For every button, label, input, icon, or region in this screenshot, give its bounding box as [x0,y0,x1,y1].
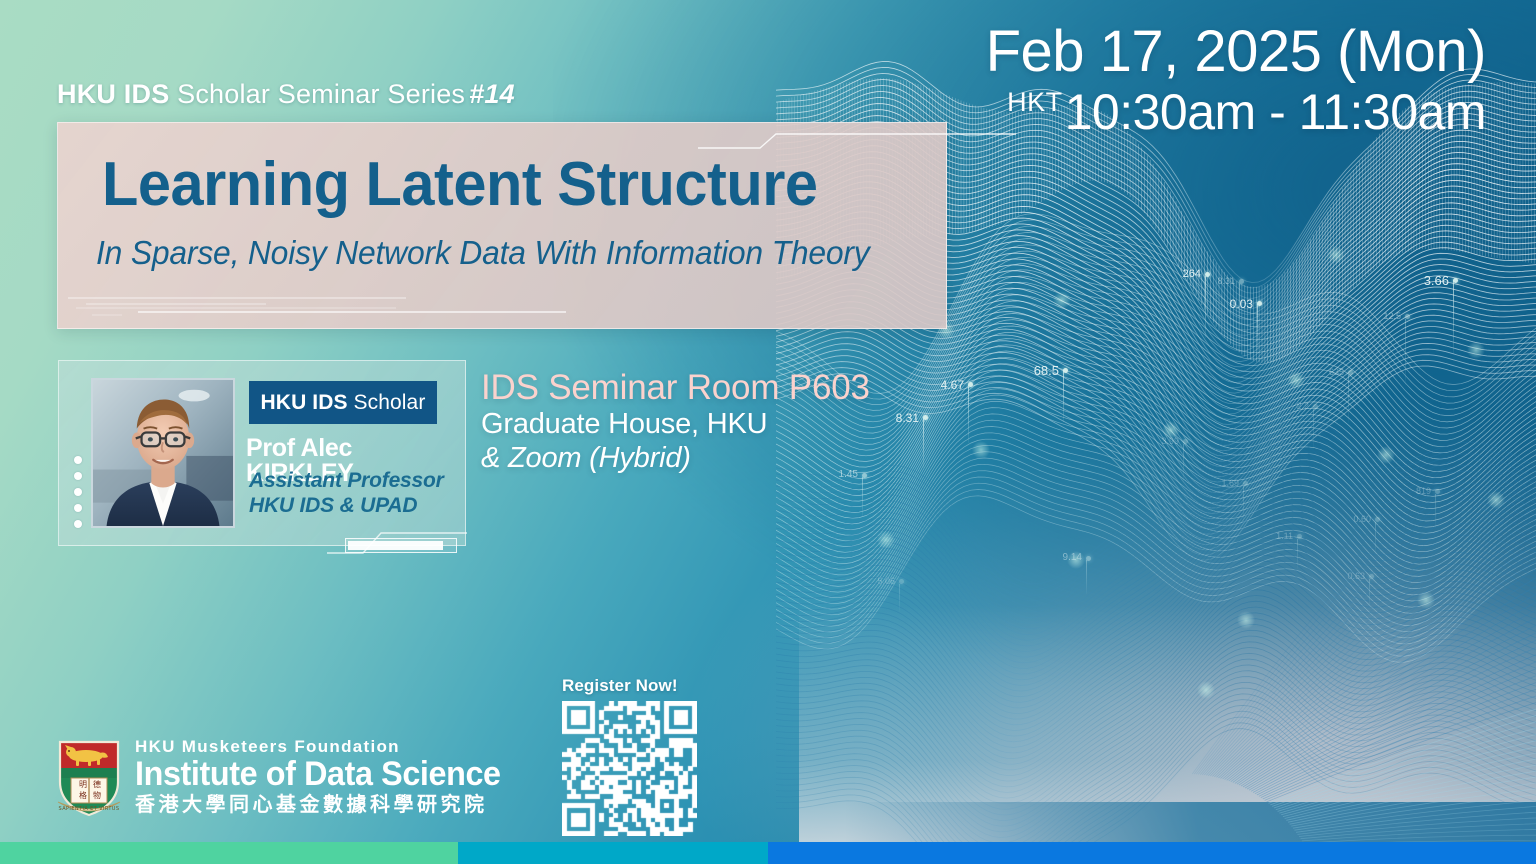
speaker-portrait [91,378,235,528]
venue-building: Graduate House, HKU [481,407,870,441]
scholar-badge-text: HKU IDS Scholar [261,391,426,415]
bottom-color-bar [0,842,1536,864]
timezone-label: HKT [1007,87,1063,117]
card-progress-decoration [345,538,457,553]
venue-mode: & Zoom (Hybrid) [481,441,870,475]
eyebrow-series: Scholar Seminar Series [169,79,465,109]
page-title: Learning Latent Structure [102,153,889,216]
venue-block: IDS Seminar Room P603 Graduate House, HK… [481,369,870,475]
eyebrow-brand: HKU IDS [57,79,169,109]
card-dots-decoration [74,456,82,536]
badge-brand: HKU IDS [261,391,348,414]
scholar-badge: HKU IDS Scholar [249,381,437,424]
venue-room: IDS Seminar Room P603 [481,369,870,407]
speaker-affiliation: Assistant Professor HKU IDS & UPAD [249,468,464,518]
speaker-title: Assistant Professor [249,468,464,493]
bottom-bar-segment-blue [768,842,1536,864]
svg-text:明: 明 [79,780,87,789]
title-card-line-decoration [66,294,666,320]
event-date: Feb 17, 2025 (Mon) [986,22,1486,81]
bottom-bar-segment-green [0,842,458,864]
svg-text:德: 德 [93,779,101,789]
institute-logo: 明 格 德 物 SAPIENTIA ET VIRTUS HKU Musketee… [56,737,520,819]
poster-canvas: 2648.310.033.6612.568.54.678.316352.23.9… [0,0,1536,864]
register-caption: Register Now! [562,676,697,696]
svg-text:SAPIENTIA ET VIRTUS: SAPIENTIA ET VIRTUS [59,806,120,812]
speaker-card: HKU IDS Scholar Prof Alec KIRKLEY Assist… [58,360,466,546]
time-range: 10:30am - 11:30am [1065,84,1486,140]
eyebrow-number: #14 [469,79,515,109]
svg-text:格: 格 [79,790,87,800]
hku-crest-icon: 明 格 德 物 SAPIENTIA ET VIRTUS [56,738,122,818]
institute-logo-text: HKU Musketeers Foundation Institute of D… [135,737,520,819]
speaker-name-given: Prof Alec [246,434,352,462]
event-datetime: Feb 17, 2025 (Mon) HKT10:30am - 11:30am [986,22,1486,138]
title-card: Learning Latent Structure In Sparse, Noi… [57,122,947,329]
seminar-series-eyebrow: HKU IDS Scholar Seminar Series#14 [57,79,515,110]
event-time: HKT10:30am - 11:30am [986,87,1486,138]
badge-role: Scholar [348,391,426,414]
speaker-department: HKU IDS & UPAD [249,493,464,518]
institute-name-chinese: 香港大學同心基金數據科學研究院 [135,792,520,817]
institute-name: Institute of Data Science [135,757,501,793]
qr-code[interactable] [562,701,697,836]
register-qr-block[interactable]: Register Now! [562,676,697,836]
page-subtitle: In Sparse, Noisy Network Data With Infor… [96,235,907,271]
bottom-bar-segment-cyan [458,842,768,864]
svg-text:物: 物 [93,790,101,800]
